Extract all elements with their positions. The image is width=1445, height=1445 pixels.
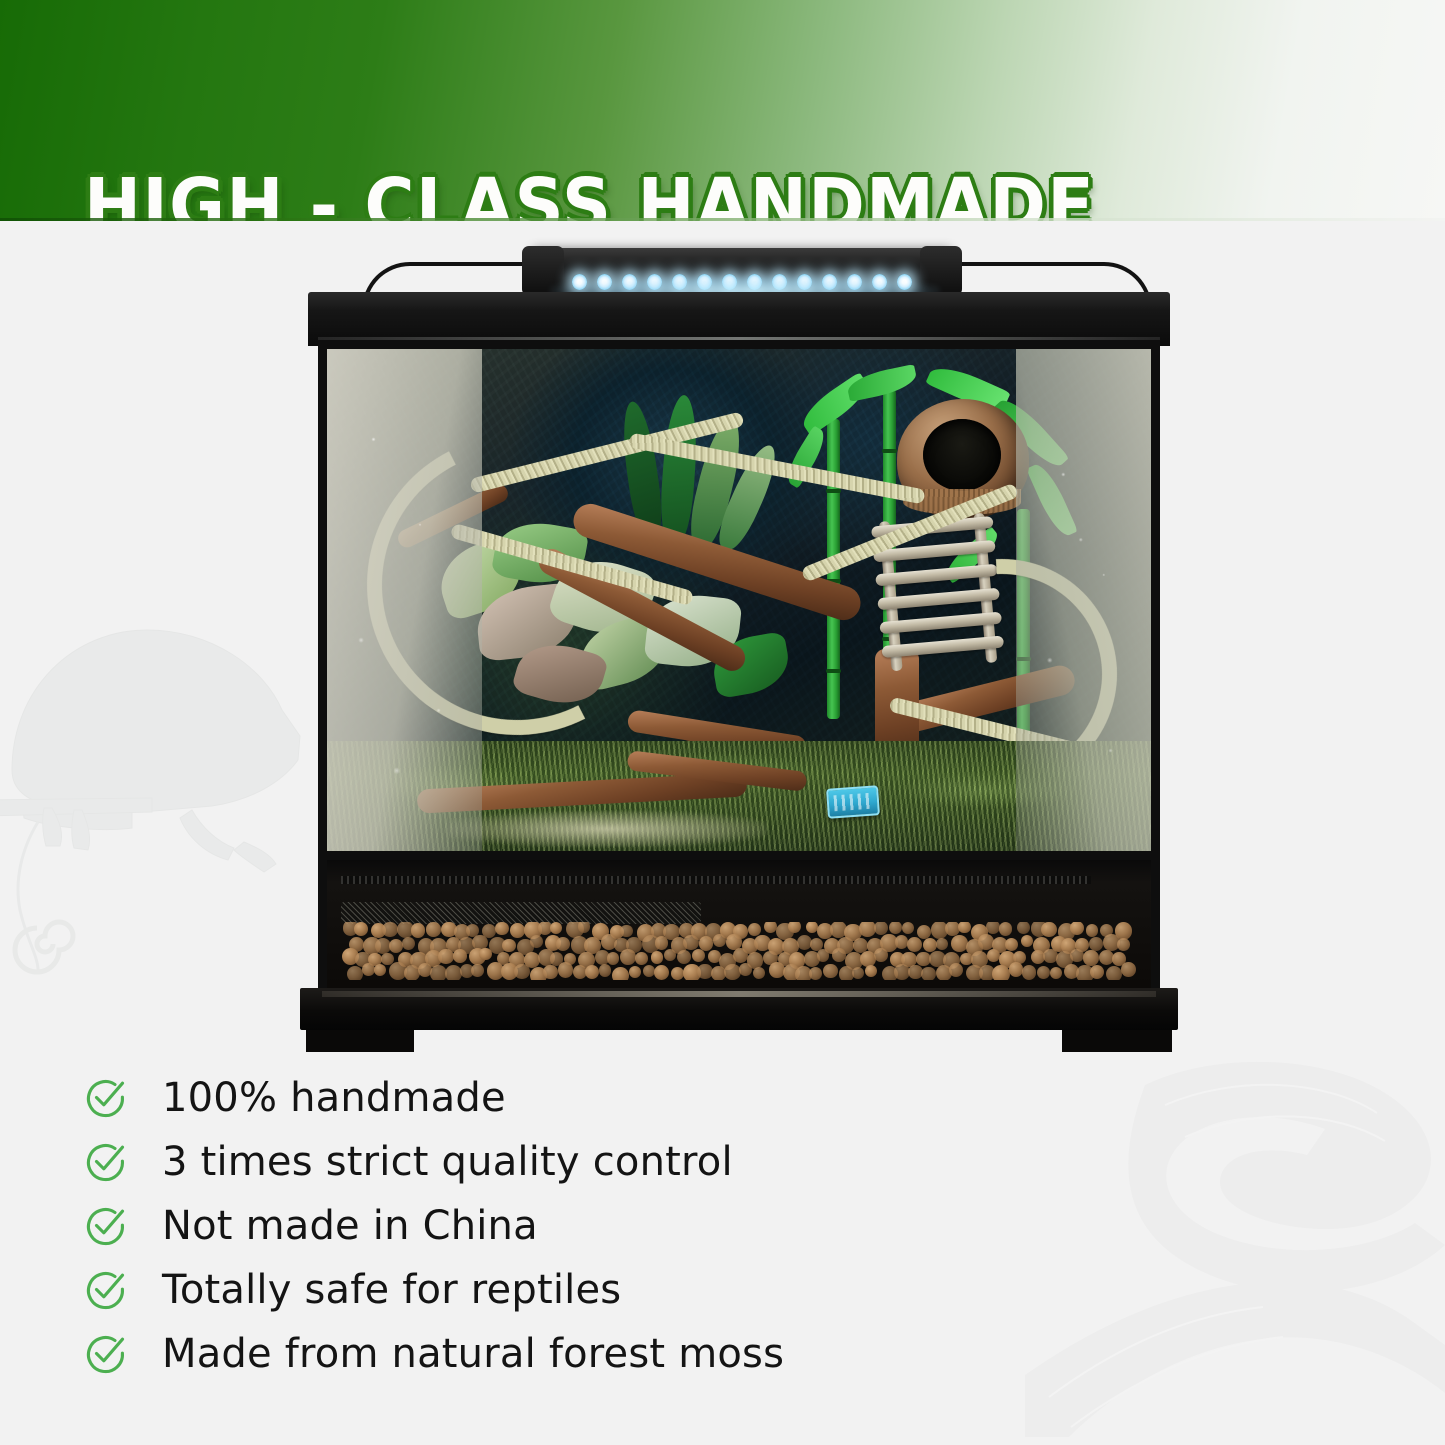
clay-ball — [1121, 962, 1136, 977]
clay-ball — [902, 922, 914, 934]
clay-ball — [502, 939, 516, 953]
clay-ball — [986, 922, 1000, 934]
feature-item: Made from natural forest moss — [84, 1322, 1024, 1386]
clay-ball — [895, 935, 908, 948]
clay-ball — [556, 937, 570, 951]
clay-ball — [951, 935, 968, 952]
clay-ball — [921, 967, 936, 980]
pale-moss-patch — [447, 811, 767, 847]
clay-ball — [612, 967, 629, 980]
clay-ball — [402, 937, 415, 950]
clay-ball — [558, 962, 574, 978]
clay-ball — [550, 922, 563, 934]
chameleon-watermark — [0, 560, 312, 990]
clay-ball — [1022, 965, 1037, 980]
clay-ball — [733, 948, 748, 963]
clay-ball — [599, 964, 611, 976]
clay-ball — [655, 936, 669, 950]
clay-ball — [620, 949, 636, 965]
check-circle-icon — [84, 1332, 128, 1376]
tank-base — [300, 988, 1178, 1030]
feature-label: Totally safe for reptiles — [162, 1267, 621, 1313]
clay-ball — [1017, 922, 1031, 934]
glass-enclosure — [318, 340, 1160, 860]
clay-ball — [671, 967, 684, 980]
clay-ball — [999, 922, 1012, 935]
check-circle-icon — [84, 1076, 128, 1120]
clay-ball — [453, 949, 467, 963]
page-title-line-1: HIGH - CLASS HANDMADE — [84, 170, 1095, 221]
clay-ball — [889, 922, 902, 934]
clay-ball — [1009, 962, 1024, 977]
clay-ball — [1037, 966, 1050, 979]
clay-ball — [852, 967, 864, 979]
clay-ball — [683, 935, 699, 951]
clay-ball — [724, 964, 740, 980]
clay-ball — [1083, 950, 1099, 966]
clay-ball — [949, 963, 963, 977]
clay-ball — [620, 925, 632, 937]
clay-ball — [823, 964, 838, 979]
clay-ball — [917, 925, 931, 939]
clay-ball — [374, 964, 386, 976]
feature-label: Made from natural forest moss — [162, 1331, 784, 1377]
clay-ball — [347, 966, 363, 980]
feature-item: Totally safe for reptiles — [84, 1258, 1024, 1322]
clay-ball — [1050, 967, 1062, 979]
feature-item: 100% handmade — [84, 1066, 1024, 1130]
clay-ball — [1117, 938, 1130, 951]
ventilation-strip — [341, 876, 1091, 884]
clay-ball — [907, 937, 922, 952]
clay-ball — [1005, 938, 1018, 951]
feature-label: 3 times strict quality control — [162, 1139, 733, 1185]
digital-thermometer — [826, 785, 880, 819]
clay-ball — [426, 922, 440, 936]
clay-ball — [987, 949, 1000, 962]
clay-ball — [543, 965, 558, 980]
clay-ball — [1070, 922, 1084, 935]
clay-ball — [654, 965, 670, 980]
clay-ball — [389, 939, 403, 953]
clay-ball — [510, 923, 525, 938]
clay-ball — [865, 965, 877, 977]
coconut-hide-opening — [923, 419, 1001, 491]
clay-ball — [664, 949, 677, 962]
clay-ball — [1021, 935, 1033, 947]
clay-ball — [992, 965, 1010, 980]
check-circle-icon — [84, 1204, 128, 1248]
tank-foot-right — [1062, 1030, 1172, 1052]
drainage-chamber — [318, 860, 1160, 988]
clay-ball — [1041, 922, 1057, 937]
terrarium-product-image — [300, 240, 1180, 1040]
clay-ball — [958, 922, 971, 933]
clay-ball — [530, 935, 543, 948]
clay-ball — [677, 950, 691, 964]
clay-ball — [859, 922, 876, 937]
feature-list: 100% handmade3 times strict quality cont… — [84, 1066, 1024, 1386]
clay-ball — [471, 964, 484, 977]
clay-ball — [817, 949, 830, 962]
check-circle-icon — [84, 1140, 128, 1184]
clay-ball — [936, 938, 948, 950]
clay-ball — [607, 952, 619, 964]
terrarium-scene — [327, 349, 1151, 851]
clay-ball — [753, 967, 765, 979]
feature-label: Not made in China — [162, 1203, 538, 1249]
clay-ball — [692, 949, 705, 962]
clay-ball — [1089, 937, 1103, 951]
tank-foot-left — [306, 1030, 414, 1052]
clay-ball — [578, 922, 590, 933]
clay-ball — [874, 948, 888, 962]
clay-ball — [635, 952, 648, 965]
feature-item: Not made in China — [84, 1194, 1024, 1258]
clay-ball — [809, 967, 822, 980]
check-circle-icon — [84, 1268, 128, 1312]
clay-ball — [354, 922, 368, 936]
clay-ball — [651, 951, 664, 964]
feature-item: 3 times strict quality control — [84, 1130, 1024, 1194]
clay-ball — [874, 922, 888, 935]
clay-ball — [514, 964, 530, 980]
clay-ball — [585, 965, 599, 979]
leca-clay-drainage-balls — [341, 922, 1137, 980]
clay-ball — [832, 948, 846, 962]
clay-ball — [713, 934, 726, 947]
clay-ball — [438, 949, 453, 964]
snake-watermark — [1025, 1045, 1445, 1445]
clay-ball — [629, 966, 641, 978]
clay-ball — [788, 922, 801, 933]
clay-ball — [430, 965, 447, 980]
glass-pane-right — [1016, 349, 1151, 851]
clay-ball — [479, 948, 491, 960]
header-banner: HIGH - CLASS HANDMADE TANK ACCESSORIES — [0, 0, 1445, 221]
clay-ball — [1086, 924, 1098, 936]
clay-ball — [411, 923, 426, 938]
page-title: HIGH - CLASS HANDMADE TANK ACCESSORIES — [84, 26, 1095, 221]
clay-ball — [739, 963, 752, 976]
tank-hood — [308, 292, 1170, 346]
substrate-mesh — [341, 902, 701, 924]
glass-pane-left — [327, 349, 482, 851]
clay-ball — [362, 963, 375, 976]
clay-ball — [382, 922, 398, 937]
feature-label: 100% handmade — [162, 1075, 506, 1121]
clay-ball — [495, 922, 508, 935]
clay-ball — [1090, 965, 1104, 979]
clay-ball — [1070, 949, 1084, 963]
